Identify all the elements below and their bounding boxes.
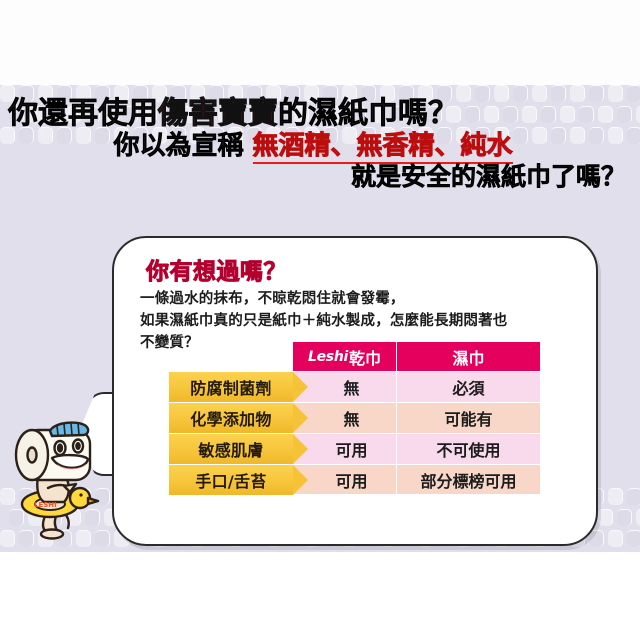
pattern-cell [617,509,632,526]
speech-bubble: 你有想過嗎？ 一條過水的抹布，不晾乾悶住就會發霉， 如果濕紙巾真的只是紙巾＋純水… [112,236,598,546]
bottom-white-band [0,552,640,640]
pattern-cell [627,530,640,547]
row-label-text: 手口/舌苔 [195,468,266,492]
row-label-text: 敏感肌膚 [198,437,263,461]
pattern-cell [627,488,640,505]
row-label-text: 防腐制菌劑 [190,375,272,399]
headline-block: 你還再使用傷害寶寶的濕紙巾嗎？ 你以為宣稱 無酒精、無香精、純水 就是安全的濕紙… [0,96,640,192]
mascot-illustration: LESHI [2,414,114,544]
table-row-label-0: 防腐制菌劑 [169,371,293,402]
headline-2-pre: 你以為宣稱 [113,131,252,161]
bubble-title: 你有想過嗎？ [146,252,287,286]
poster-canvas: 你還再使用傷害寶寶的濕紙巾嗎？ 你以為宣稱 無酒精、無香精、純水 就是安全的濕紙… [0,0,640,640]
table-cell-wet-2: 不可使用 [397,433,540,464]
top-white-band [0,0,640,86]
headline-2-highlight: 無酒精、無香精、純水 [253,131,513,164]
pattern-cell [608,530,623,547]
pattern-cell [598,509,613,526]
table-row-label-3: 手口/舌苔 [169,464,293,495]
row-label-text: 化學添加物 [190,406,272,430]
table-row: 敏感肌膚 可用 不可使用 [169,433,573,464]
headline-3-text: 就是安全的濕紙巾了嗎？ [351,162,626,191]
pattern-cell [589,530,604,547]
headline-1-pre: 你還再使用 [8,96,158,131]
table-cell-dry-2: 可用 [293,433,397,464]
table-row: 化學添加物 無 可能有 [169,402,573,433]
leshi-logo-text: Leshi [308,349,348,365]
table-header-wet: 濕巾 [397,342,540,371]
table-row-label-1: 化學添加物 [169,402,293,433]
table-cell-wet-0: 必須 [397,371,540,402]
table-header-wet-label: 濕巾 [452,345,484,369]
table-cell-dry-0: 無 [293,371,397,402]
bubble-body-line-2: 如果濕紙巾真的只是紙巾＋純水製成，怎麼能長期悶著也 [140,310,590,332]
table-row-label-2: 敏感肌膚 [169,433,293,464]
table-header-dry: Leshi乾巾 [293,342,397,371]
pattern-cell [608,488,623,505]
headline-line-2: 你以為宣稱 無酒精、無香精、純水 [0,131,640,162]
table-header-dry-label: 乾巾 [349,345,381,369]
headline-1-highlight: 傷害寶寶 [158,96,278,131]
table-row: 防腐制菌劑 無 必須 [169,371,573,402]
comparison-table: Leshi乾巾 濕巾 防腐制菌劑 無 必須 化學添加物 無 可能有 敏感肌膚 可… [169,342,573,495]
table-cell-wet-1: 可能有 [397,402,540,433]
table-row: 手口/舌苔 可用 部分標榜可用 [169,464,573,495]
table-cell-dry-3: 可用 [293,464,397,495]
table-cell-dry-1: 無 [293,402,397,433]
ring-logo-text: LESHI [34,501,57,509]
bubble-body-line-1: 一條過水的抹布，不晾乾悶住就會發霉， [140,288,590,310]
headline-line-1: 你還再使用傷害寶寶的濕紙巾嗎？ [0,96,640,131]
table-header-row: Leshi乾巾 濕巾 [293,342,573,371]
mascot-svg: LESHI [2,414,114,544]
headline-1-post: 的濕紙巾嗎？ [278,96,458,131]
table-cell-wet-3: 部分標榜可用 [397,464,540,495]
pattern-cell [636,509,640,526]
headline-line-3: 就是安全的濕紙巾了嗎？ [0,162,640,192]
